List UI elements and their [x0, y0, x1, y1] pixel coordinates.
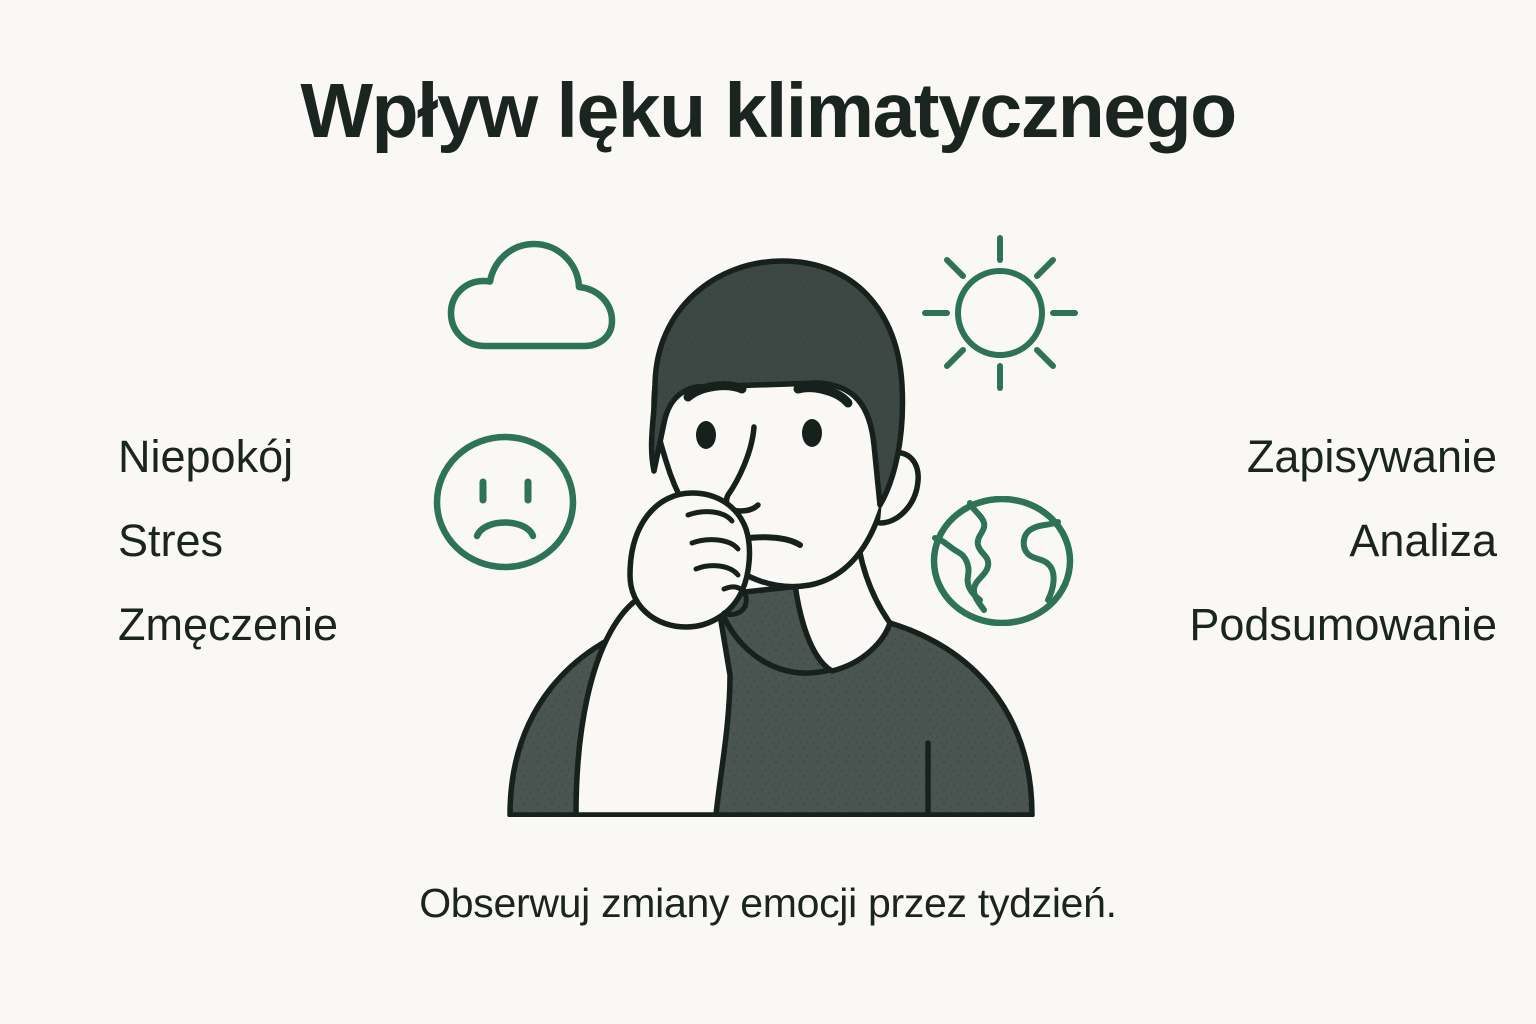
infographic-poster: Wpływ lęku klimatycznego Niepokój Stres …: [0, 0, 1536, 1024]
left-label-item-3: Zmęczenie: [118, 583, 338, 667]
right-label-item-1: Zapisywanie: [1189, 415, 1497, 499]
page-title: Wpływ lęku klimatycznego: [0, 73, 1536, 150]
sweater: [480, 555, 1060, 817]
hand-at-chin: [576, 493, 749, 815]
right-label-column: Zapisywanie Analiza Podsumowanie: [1189, 415, 1497, 667]
left-label-item-2: Stres: [118, 499, 338, 583]
left-label-item-1: Niepokój: [118, 415, 338, 499]
right-label-item-3: Podsumowanie: [1189, 583, 1497, 667]
left-label-column: Niepokój Stres Zmęczenie: [118, 415, 338, 667]
right-label-item-2: Analiza: [1189, 499, 1497, 583]
worried-man-illustration: [480, 255, 1060, 822]
caption-text: Obserwuj zmiany emocji przez tydzień.: [0, 880, 1536, 927]
